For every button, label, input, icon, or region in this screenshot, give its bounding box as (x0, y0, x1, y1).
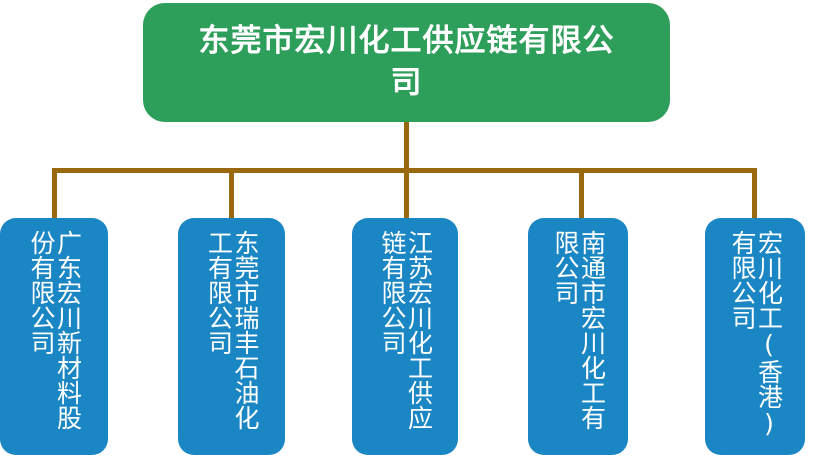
org-node-subsidiary-1[interactable]: 广东宏川新材料股份有限公司 (0, 218, 108, 455)
org-chart: 东莞市宏川化工供应链有限公司 广东宏川新材料股份有限公司 东莞市瑞丰石油化工有限… (0, 0, 813, 464)
org-node-subsidiary-4[interactable]: 南通市宏川化工有限公司 (528, 218, 628, 455)
org-node-root-label: 东莞市宏川化工供应链有限公司 (187, 21, 627, 105)
org-node-subsidiary-3-label: 江苏宏川化工供应链有限公司 (379, 230, 432, 445)
org-node-subsidiary-5-label: 宏川化工(香港)有限公司 (729, 230, 782, 445)
org-node-subsidiary-3[interactable]: 江苏宏川化工供应链有限公司 (352, 218, 458, 455)
connector-drop-2 (229, 168, 234, 220)
connector-drop-4 (579, 168, 584, 220)
org-node-subsidiary-5[interactable]: 宏川化工(香港)有限公司 (705, 218, 805, 455)
connector-drop-1 (52, 168, 57, 220)
connector-drop-5 (752, 168, 757, 220)
org-node-subsidiary-2-label: 东莞市瑞丰石油化工有限公司 (205, 230, 258, 445)
org-node-subsidiary-4-label: 南通市宏川化工有限公司 (552, 230, 605, 445)
connector-drop-3 (404, 168, 409, 220)
org-node-root[interactable]: 东莞市宏川化工供应链有限公司 (143, 3, 670, 122)
org-node-subsidiary-1-label: 广东宏川新材料股份有限公司 (28, 230, 81, 445)
connector-root-stem (404, 122, 409, 170)
org-node-subsidiary-2[interactable]: 东莞市瑞丰石油化工有限公司 (178, 218, 285, 455)
